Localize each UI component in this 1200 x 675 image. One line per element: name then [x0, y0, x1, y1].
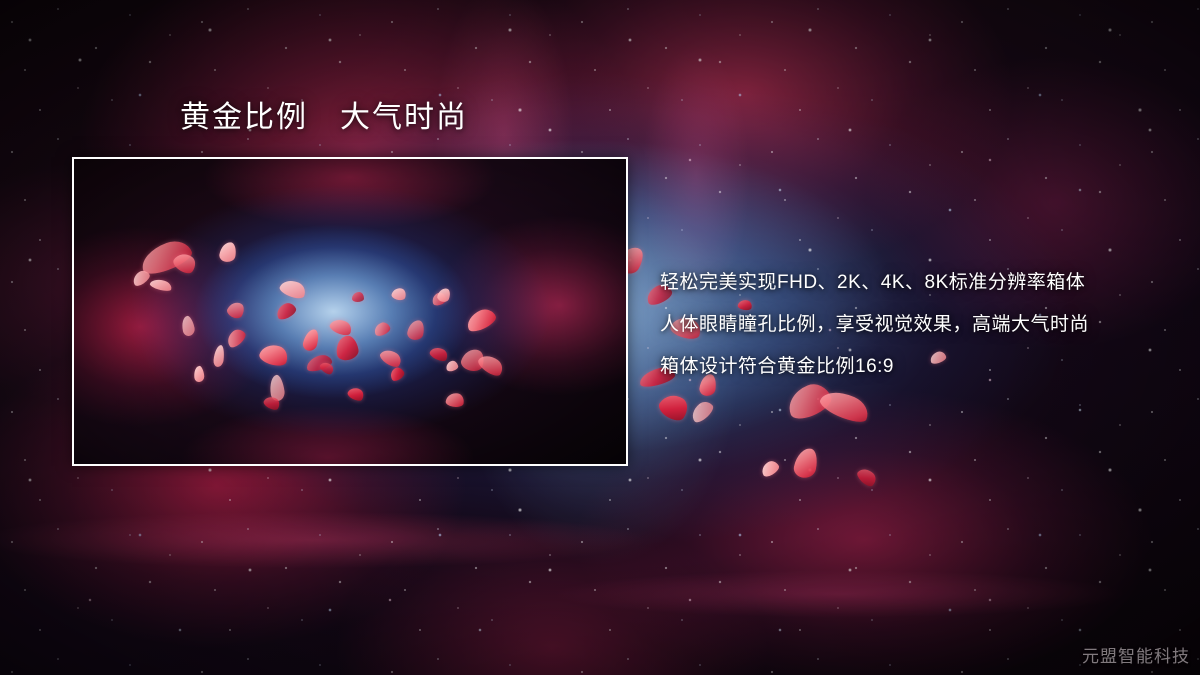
display-screen-frame [72, 157, 628, 466]
description-line-1: 轻松完美实现FHD、2K、4K、8K标准分辨率箱体 [660, 262, 1180, 304]
screen-nebula-image [74, 159, 626, 464]
description-line-2: 人体眼睛瞳孔比例，享受视觉效果，高端大气时尚 [660, 304, 1180, 346]
flower-petal [352, 292, 364, 302]
page-title: 黄金比例 大气时尚 [180, 100, 468, 136]
presentation-slide: 黄金比例 大气时尚 轻松完美实现FHD、2K、4K、8K标准分辨率箱体 人体眼睛… [0, 0, 1200, 675]
description-block: 轻松完美实现FHD、2K、4K、8K标准分辨率箱体 人体眼睛瞳孔比例，享受视觉效… [660, 262, 1180, 388]
description-line-3: 箱体设计符合黄金比例16:9 [660, 346, 1180, 388]
company-watermark: 元盟智能科技 [1082, 642, 1190, 667]
